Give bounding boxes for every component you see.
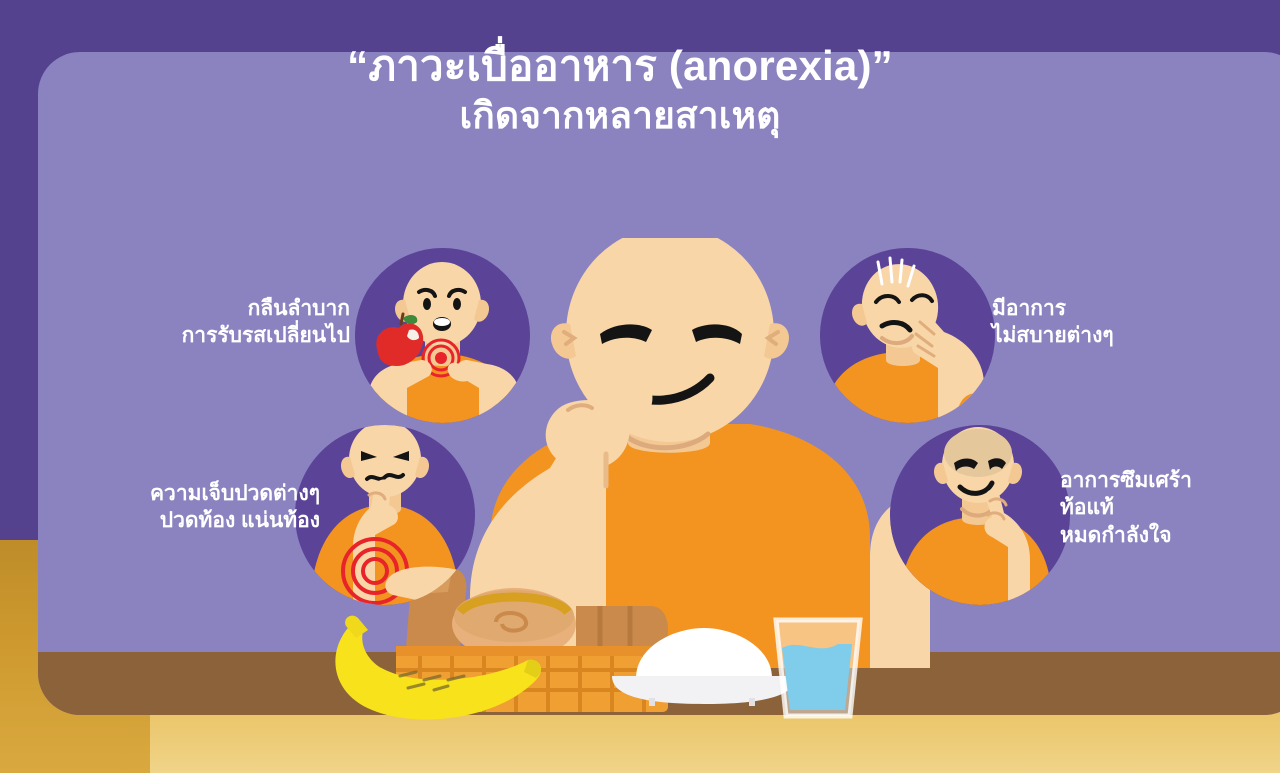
cause-label-line: ไม่สบายต่างๆ	[992, 322, 1252, 349]
cause-label-swallowing-taste: กลืนลำบาก การรับรสเปลี่ยนไป	[80, 295, 350, 350]
cause-label-line: ท้อแท้	[1060, 494, 1280, 521]
cause-label-line: อาการซึมเศร้า	[1060, 467, 1280, 494]
title-line-1: “ภาวะเบื่ออาหาร (anorexia)”	[0, 40, 1240, 91]
person-stomach-ache-nausea-icon	[295, 425, 475, 605]
title-line-2: เกิดจากหลายสาเหตุ	[0, 93, 1240, 139]
cause-badge-general-discomfort[interactable]	[820, 248, 995, 423]
cause-label-line: ปวดท้อง แน่นท้อง	[30, 507, 320, 534]
cause-label-line: หมดกำลังใจ	[1060, 522, 1280, 549]
glass-of-water-icon	[776, 620, 860, 716]
cause-badge-depression[interactable]	[890, 425, 1070, 605]
infographic-root: “ภาวะเบื่ออาหาร (anorexia)” เกิดจากหลายส…	[0, 0, 1280, 773]
cause-badge-swallowing-taste[interactable]	[355, 248, 530, 423]
cause-label-pain-stomach: ความเจ็บปวดต่างๆ ปวดท้อง แน่นท้อง	[30, 480, 320, 535]
cause-badge-pain-stomach[interactable]	[295, 425, 475, 605]
person-depressed-icon	[890, 425, 1070, 605]
cause-label-line: กลืนลำบาก	[80, 295, 350, 322]
cause-label-line: การรับรสเปลี่ยนไป	[80, 322, 350, 349]
cause-label-line: มีอาการ	[992, 295, 1252, 322]
person-holding-apple-sore-throat-icon	[355, 248, 530, 423]
cause-label-depression: อาการซึมเศร้า ท้อแท้ หมดกำลังใจ	[1060, 467, 1280, 549]
page-title: “ภาวะเบื่ออาหาร (anorexia)” เกิดจากหลายส…	[0, 40, 1240, 139]
cause-label-general-discomfort: มีอาการ ไม่สบายต่างๆ	[992, 295, 1252, 350]
person-headache-icon	[820, 248, 995, 423]
cause-label-line: ความเจ็บปวดต่างๆ	[30, 480, 320, 507]
